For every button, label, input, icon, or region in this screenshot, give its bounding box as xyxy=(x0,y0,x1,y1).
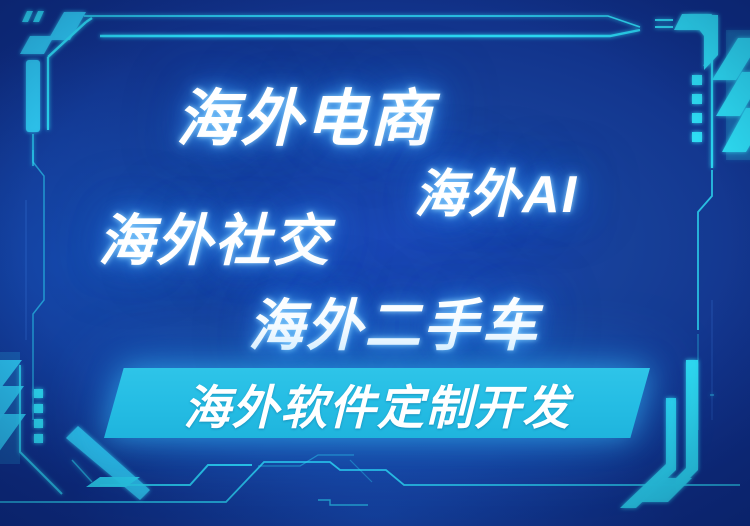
headline-ecommerce: 海外电商 xyxy=(176,68,434,158)
headline-ai: 海外AI xyxy=(414,152,578,227)
headline-used-car: 海外二手车 xyxy=(248,281,539,362)
software-development-ribbon: 海外软件定制开发 xyxy=(104,368,650,438)
tech-promo-banner: 海外电商 海外AI 海外社交 海外二手车 海外软件定制开发 xyxy=(0,0,750,526)
ribbon-label: 海外软件定制开发 xyxy=(104,368,650,438)
headline-social: 海外社交 xyxy=(98,196,331,277)
